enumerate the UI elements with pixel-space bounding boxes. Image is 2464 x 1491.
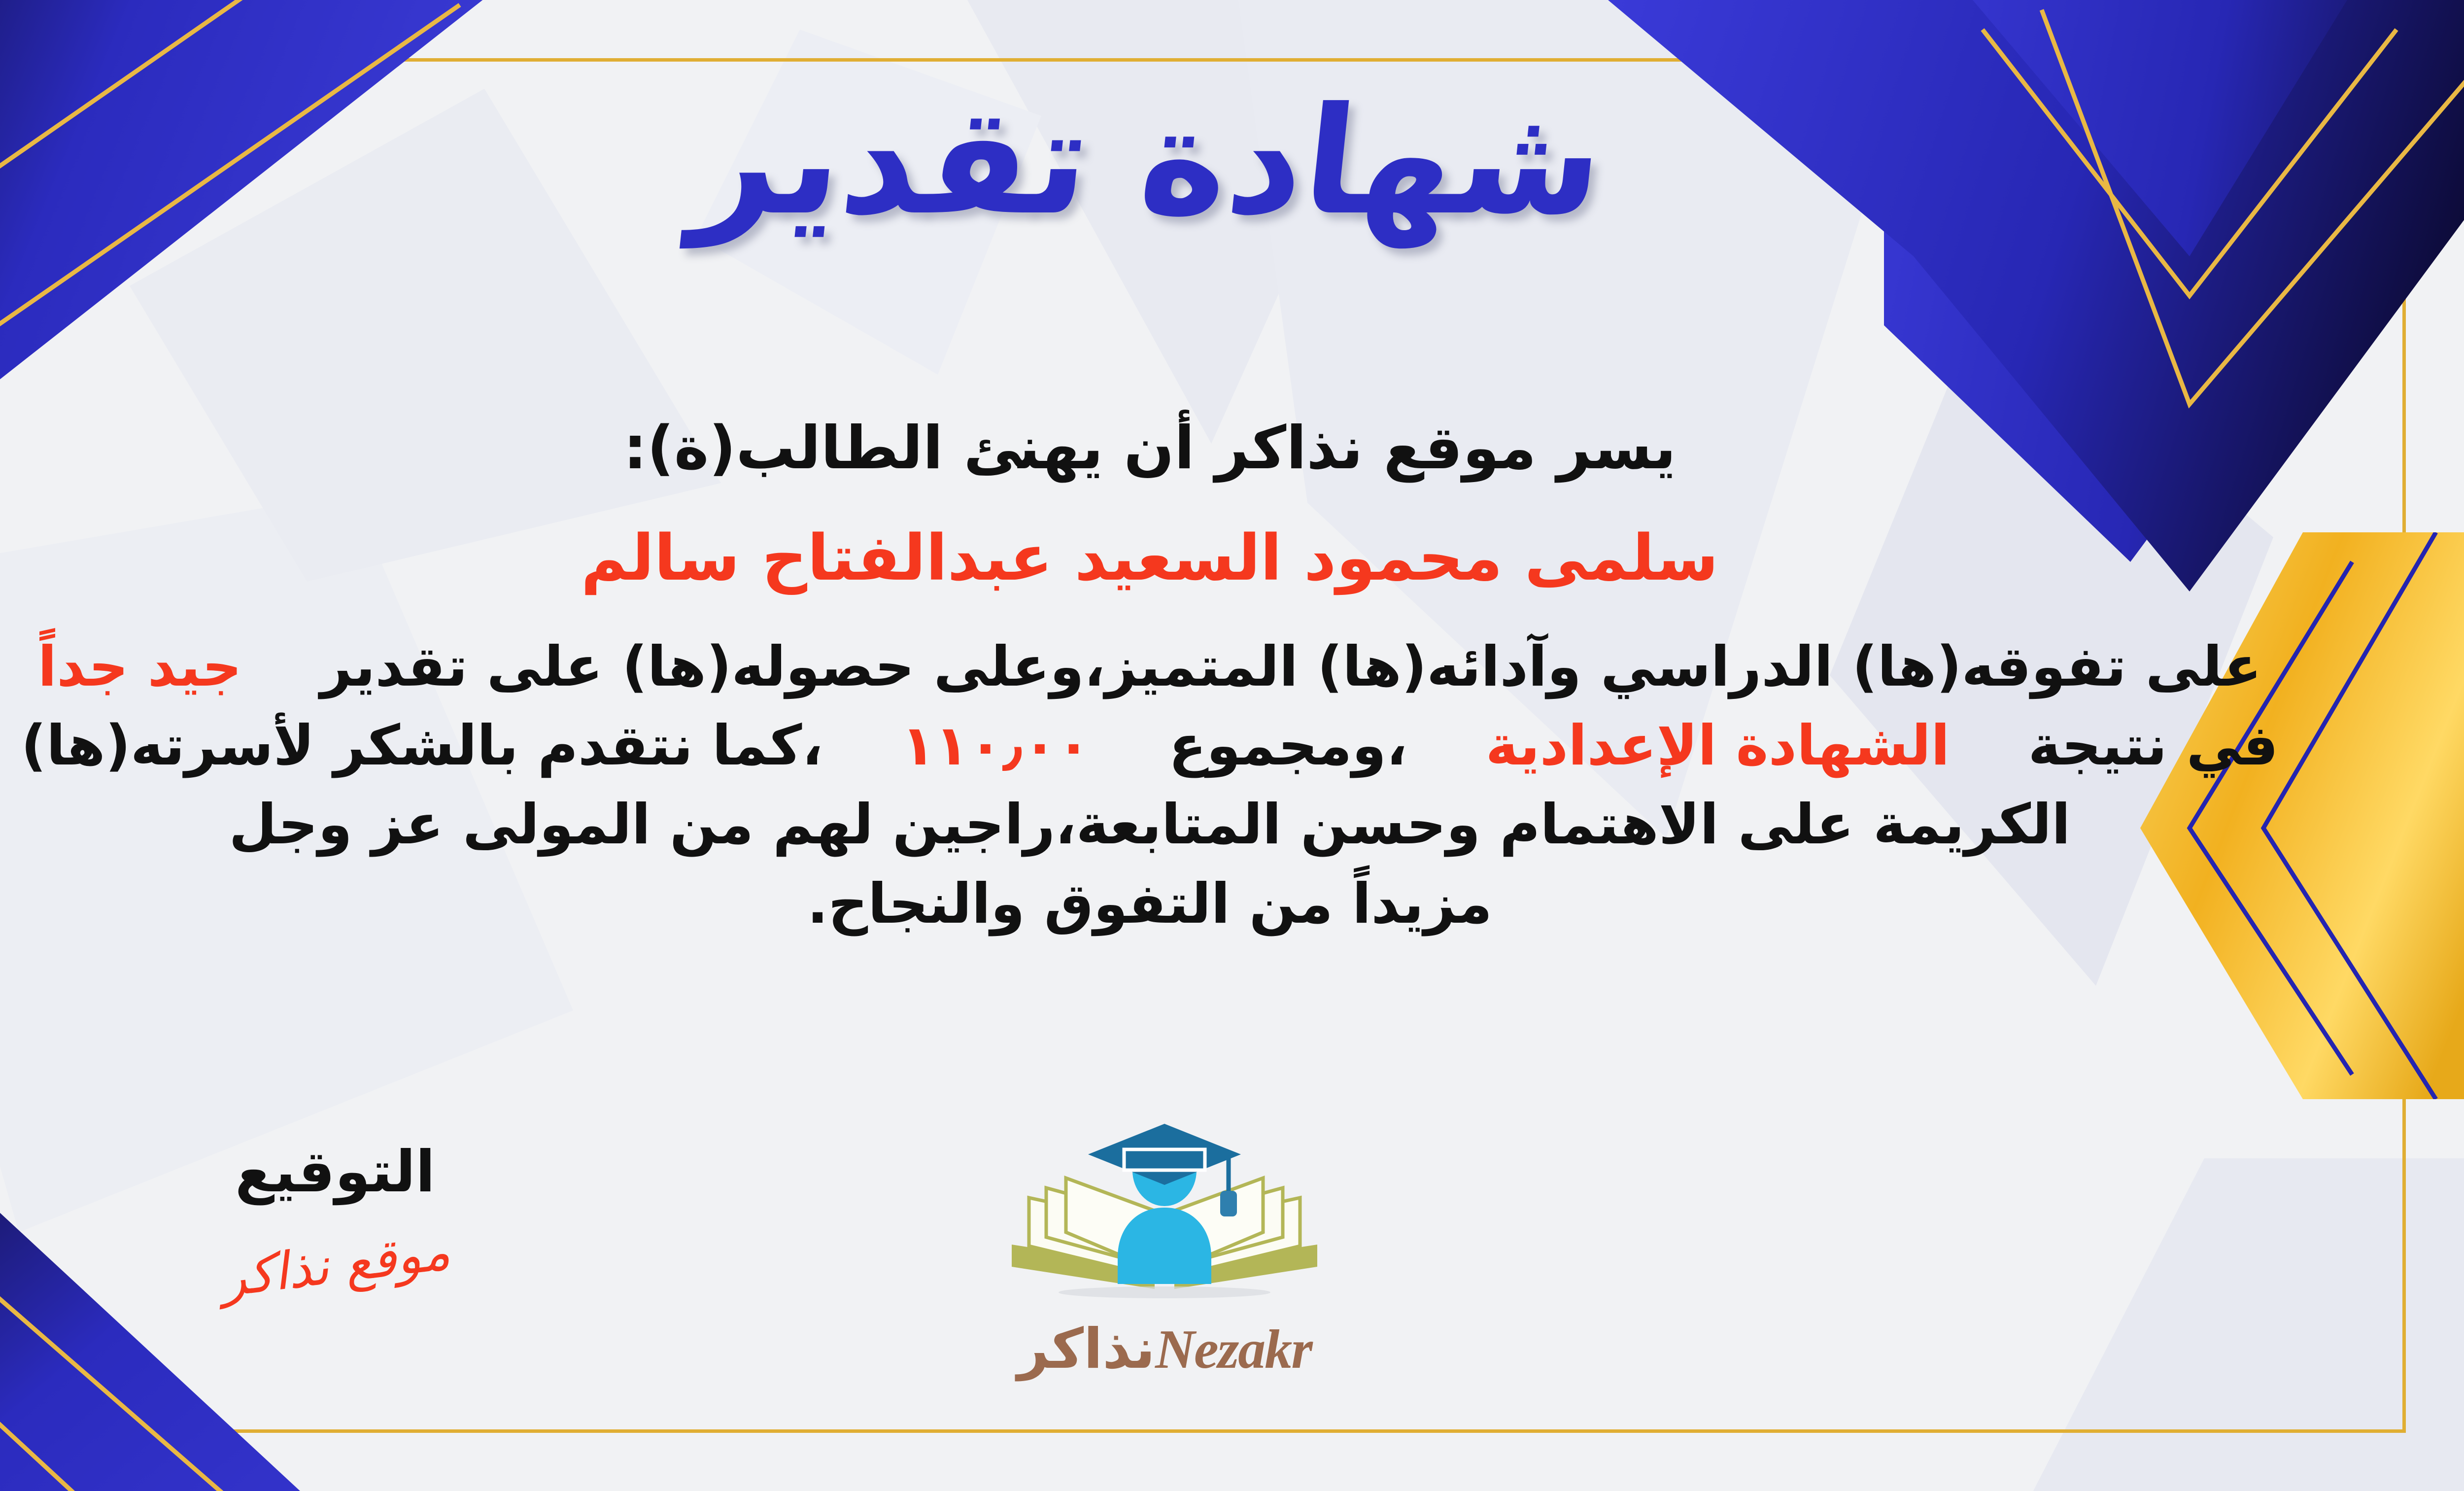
certificate-title: شهادة تقدير (0, 84, 2464, 239)
result-prefix: في نتيجة (2028, 714, 2278, 778)
result-line: في نتيجة الشهادة الإعدادية ،ومجموع ١١٠٫٠… (0, 709, 2362, 783)
total-score: ١١٠٫٠٠ (901, 714, 1091, 778)
total-label: ،ومجموع (1169, 714, 1407, 778)
logo-arabic: نذاكر (1017, 1317, 1155, 1381)
signature-label: التوقيع (133, 1139, 537, 1205)
logo-latin: Nezakr (1155, 1319, 1312, 1380)
grade-value: جيد جداً (38, 635, 242, 699)
signature-block: التوقيع موقع نذاكر (133, 1139, 537, 1295)
logo-wordmark: Nezakrنذاكر (977, 1317, 1352, 1382)
exam-name: الشهادة الإعدادية (1486, 714, 1950, 778)
certificate-body: يسر موقع نذاكر أن يهنئ الطالب(ة): سلمى م… (0, 409, 2362, 946)
intro-line: يسر موقع نذاكر أن يهنئ الطالب(ة): (0, 409, 2362, 488)
achievement-text: على تفوقه(ها) الدراسي وآدائه(ها) المتميز… (320, 635, 2262, 699)
thanks-line: الكريمة على الاهتمام وحسن المتابعة،راجين… (0, 788, 2362, 862)
certificate-page: شهادة تقدير يسر موقع نذاكر أن يهنئ الطال… (0, 0, 2464, 1491)
site-logo: Nezakrنذاكر (977, 1119, 1352, 1382)
closing-line: مزيداً من التفوق والنجاح. (0, 867, 2362, 941)
title-text: شهادة تقدير (687, 84, 1611, 239)
graduate-on-book-logo-icon (992, 1119, 1337, 1316)
student-name: سلمى محمود السعيد عبدالفتاح سالم (0, 516, 2362, 601)
thanks-prefix: ،كما نتقدم بالشكر لأسرته(ها) (21, 714, 823, 778)
achievement-line: على تفوقه(ها) الدراسي وآدائه(ها) المتميز… (0, 630, 2362, 704)
